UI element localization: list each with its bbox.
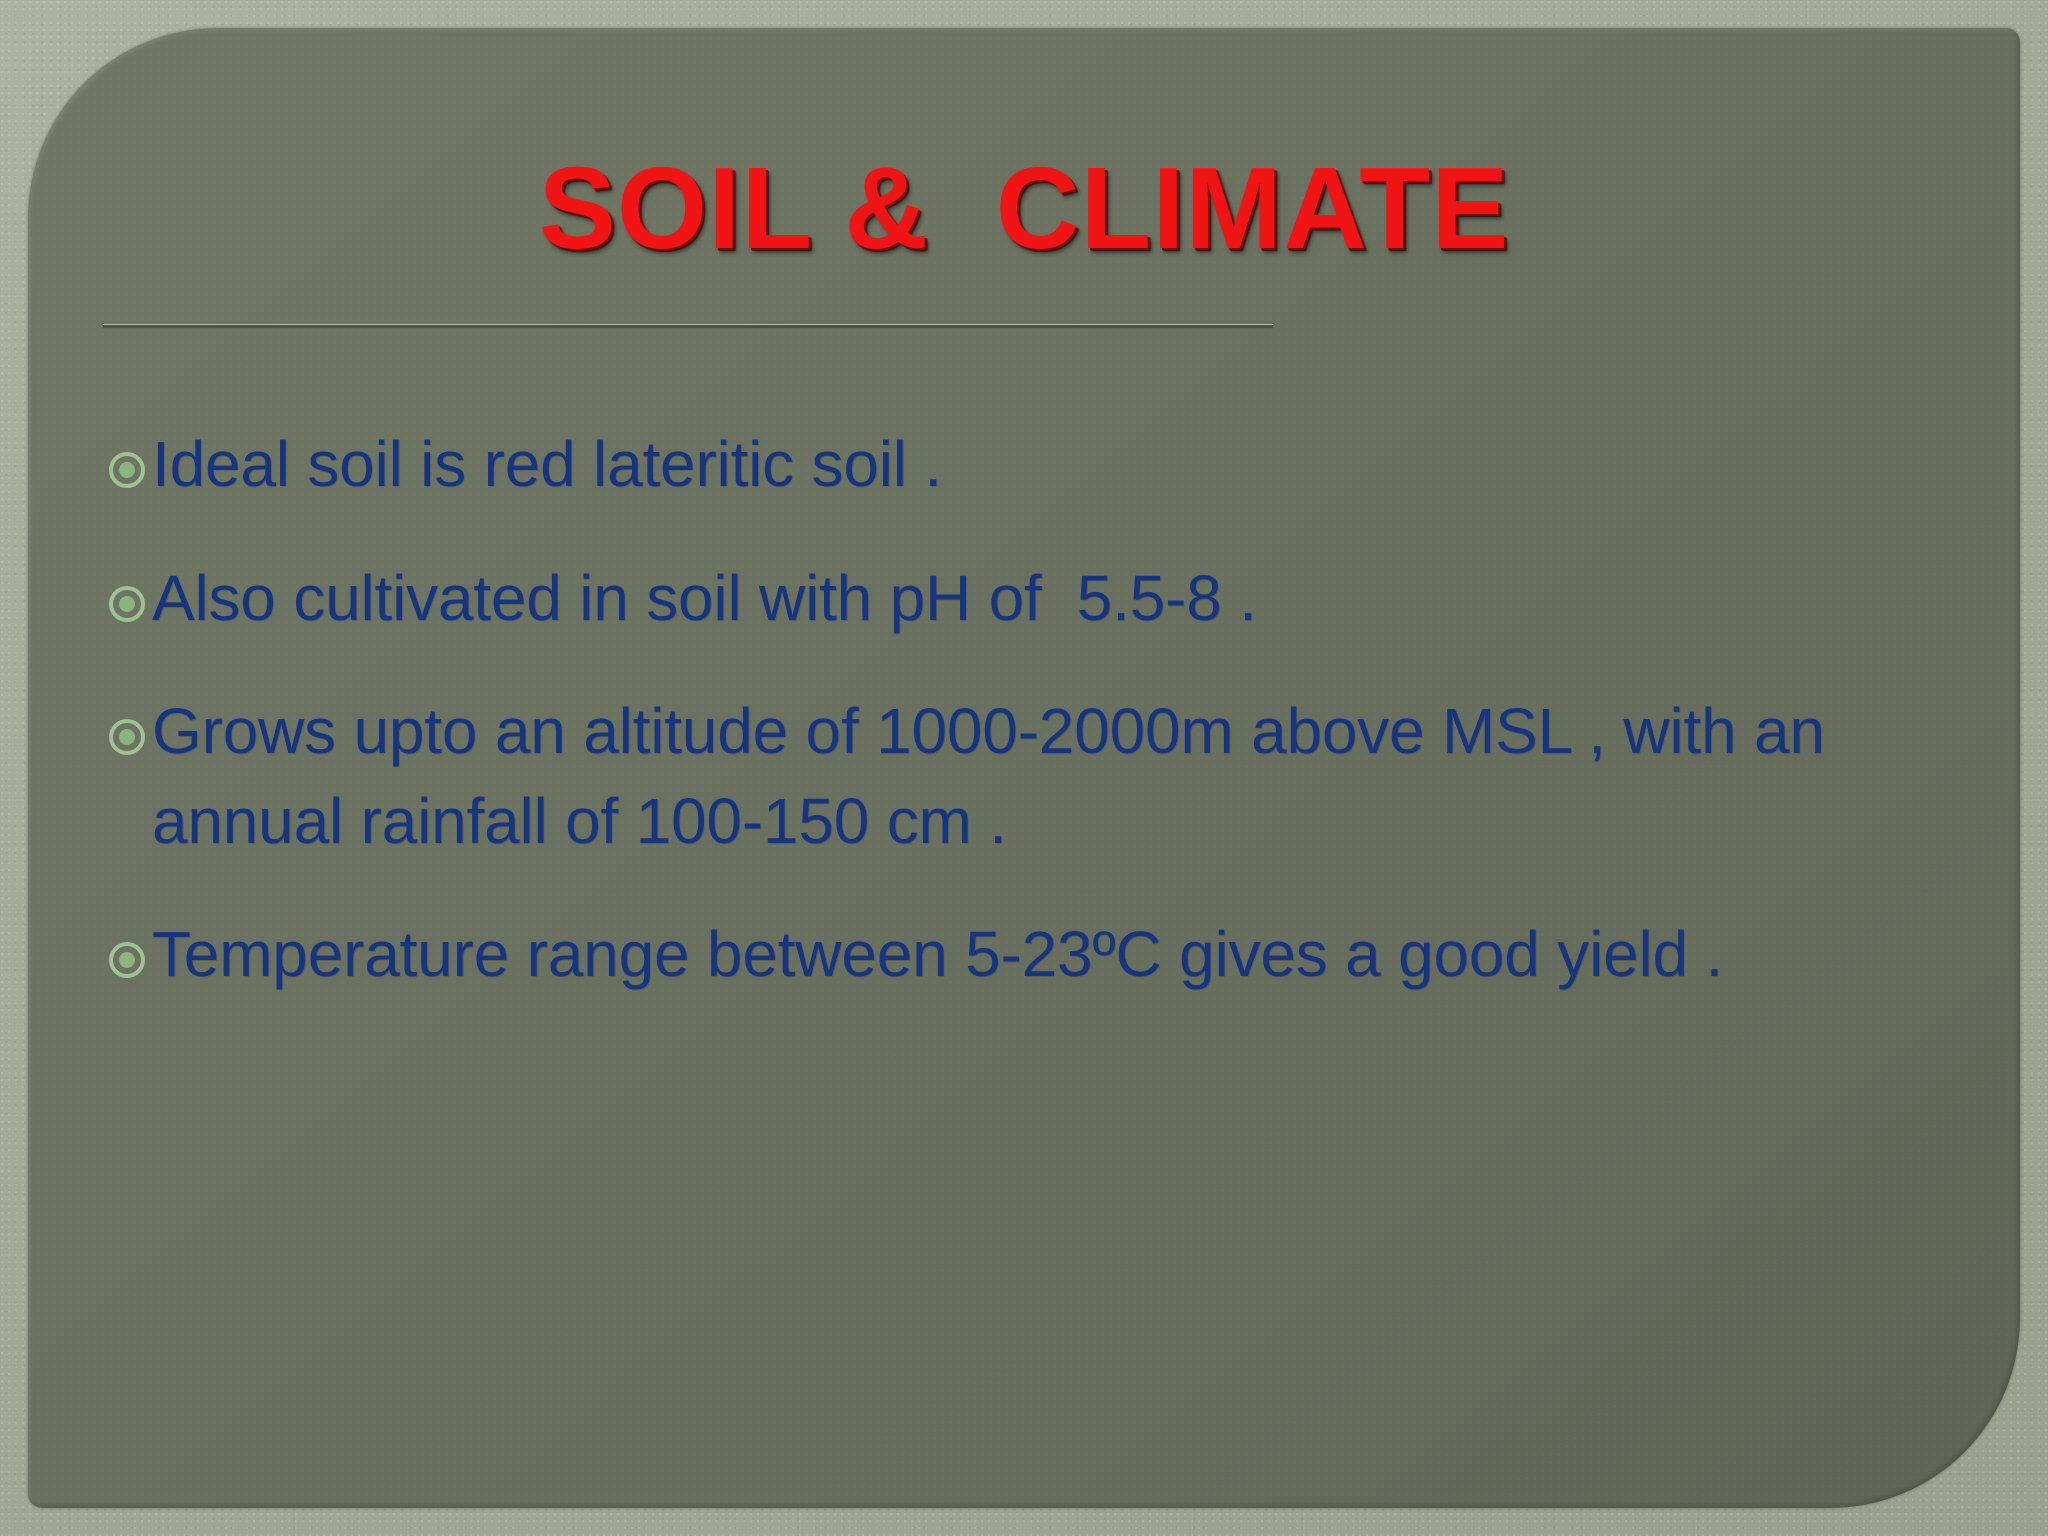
title-divider-rule: [103, 324, 1273, 327]
title-block: SOIL & CLIMATE: [28, 150, 2020, 266]
slide-canvas: SOIL & CLIMATE Ideal soil is red laterit…: [0, 0, 2048, 1536]
ringed-dot-bullet-icon: [106, 558, 152, 632]
list-item-label: Grows upto an altitude of 1000-2000m abo…: [152, 687, 1960, 866]
ringed-dot-bullet-icon: [106, 914, 152, 988]
list-item: Grows upto an altitude of 1000-2000m abo…: [106, 687, 1960, 866]
list-item: Ideal soil is red lateritic soil .: [106, 420, 1960, 510]
list-item-label: Ideal soil is red lateritic soil .: [152, 420, 1960, 510]
slide-title: SOIL & CLIMATE: [539, 150, 1510, 266]
ringed-dot-bullet-icon: [106, 691, 152, 765]
list-item-label: Also cultivated in soil with pH of 5.5-8…: [152, 554, 1960, 644]
ringed-dot-bullet-icon: [106, 424, 152, 498]
list-item-label: Temperature range between 5-23ºC gives a…: [152, 910, 1960, 1000]
list-item: Also cultivated in soil with pH of 5.5-8…: [106, 554, 1960, 644]
slide-content-panel: SOIL & CLIMATE Ideal soil is red laterit…: [28, 28, 2020, 1508]
bullet-list: Ideal soil is red lateritic soil . Also …: [106, 420, 1960, 1000]
list-item: Temperature range between 5-23ºC gives a…: [106, 910, 1960, 1000]
